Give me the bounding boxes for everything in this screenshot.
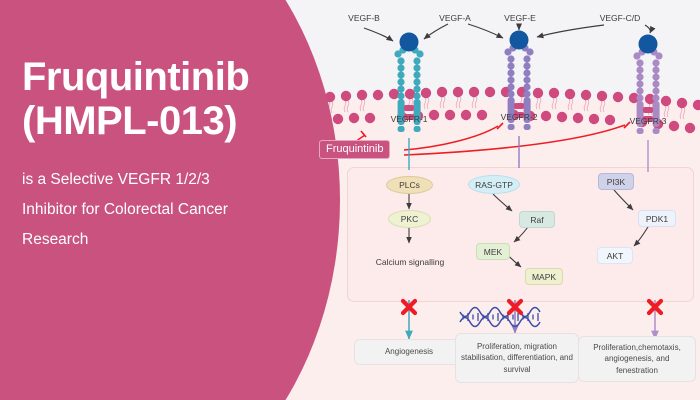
node-calcium-signalling: Calcium signalling [375, 250, 445, 274]
ligand-label-vegf-e: VEGF-E [488, 13, 552, 23]
hero-subtitle-line3: Research [22, 225, 322, 255]
outcome-box-proliferation-migration: Proliferation, migration stabilisation, … [455, 333, 579, 383]
ligand-label-vegf-a: VEGF-A [423, 13, 487, 23]
drug-label-fruquintinib[interactable]: Fruquintinib [319, 140, 390, 159]
hero-subtitle-line2: Inhibitor for Colorectal Cancer [22, 195, 322, 225]
receptor-label-vegfr3: VEGFR-3 [618, 116, 678, 126]
outcome-box-angiogenesis: Angiogenesis [354, 339, 464, 365]
outcome-box-proliferation-chemotaxis: Proliferation,chemotaxis, angiogenesis, … [578, 336, 696, 382]
ligand-label-vegf-cd: VEGF-C/D [583, 13, 657, 23]
receptor-label-vegfr1: VEGFR-1 [379, 114, 439, 124]
node-raf[interactable]: Raf [519, 211, 555, 228]
hero-title-line1: Fruquintinib [22, 55, 322, 99]
ligand-label-vegf-b: VEGF-B [332, 13, 396, 23]
receptor-label-vegfr2: VEGFR-2 [489, 112, 549, 122]
node-pkc[interactable]: PKC [388, 210, 431, 228]
hero-text-block: Fruquintinib (HMPL-013) is a Selective V… [22, 55, 322, 255]
hero-title-line2: (HMPL-013) [22, 99, 322, 143]
node-mapk[interactable]: MAPK [525, 268, 563, 285]
receptor-connectors [409, 136, 648, 172]
node-pdk1[interactable]: PDK1 [638, 210, 676, 227]
blocked-x-marks [403, 301, 661, 313]
node-ras-gtp[interactable]: RAS-GTP [468, 175, 520, 194]
node-mek[interactable]: MEK [476, 243, 510, 260]
node-akt[interactable]: AKT [597, 247, 633, 264]
dna-helix-icon [460, 308, 540, 327]
hero-subtitle-line1: is a Selective VEGFR 1/2/3 [22, 165, 322, 195]
infographic-canvas: Fruquintinib (HMPL-013) is a Selective V… [0, 0, 700, 400]
node-pi3k[interactable]: PI3K [598, 173, 634, 190]
node-plcs[interactable]: PLCs [386, 176, 433, 194]
